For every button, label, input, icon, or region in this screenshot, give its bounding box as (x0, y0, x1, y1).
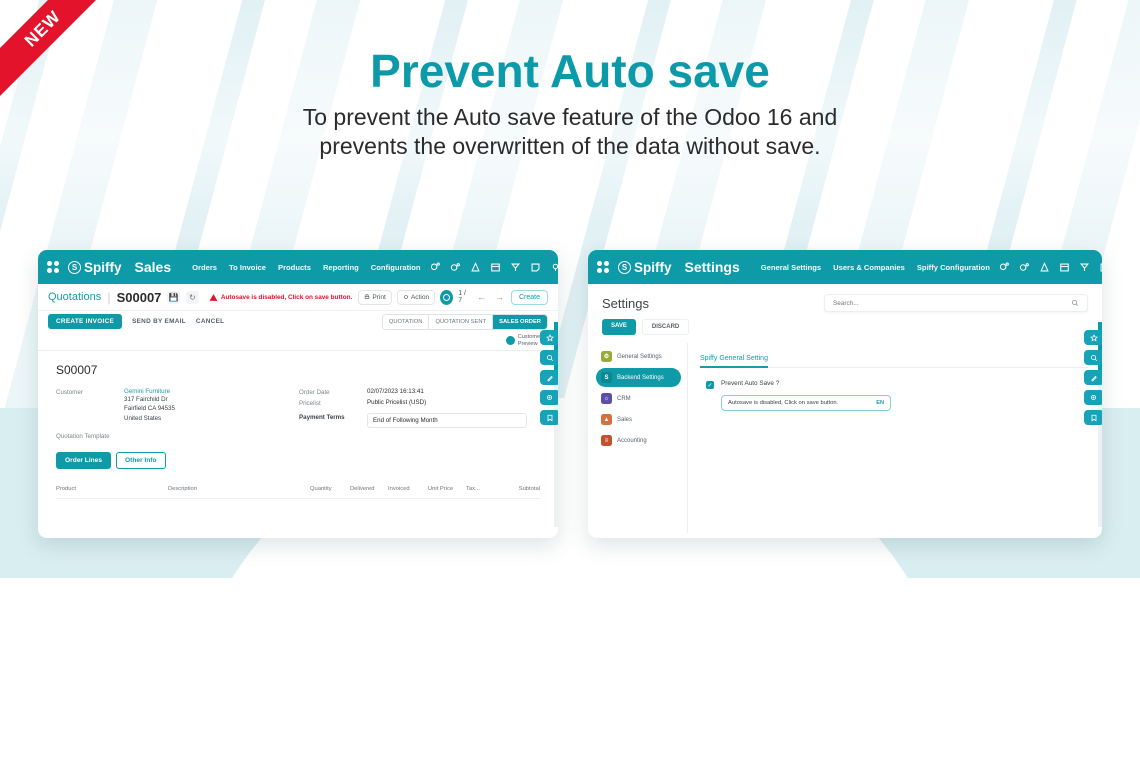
sidebar-item-sales[interactable]: ▲ Sales (596, 410, 681, 429)
settings-navbar: S Spiffy Settings General Settings Users… (588, 250, 1102, 284)
nav-item-configuration[interactable]: Configuration (371, 263, 421, 272)
app-name: Settings (685, 259, 740, 275)
apps-grid-icon[interactable] (47, 261, 59, 273)
col-tax: Tax... (466, 486, 494, 492)
note-icon[interactable] (1099, 262, 1102, 273)
settings-nav-links: General Settings Users & Companies Spiff… (761, 263, 990, 272)
brand-label: Spiffy (84, 260, 122, 275)
sales-navbar: S Spiffy Sales Orders To Invoice Product… (38, 250, 558, 284)
sales-control-bar: Quotations | S00007 💾 ↻ Autosave is disa… (38, 284, 558, 310)
floating-toolbar-right (1084, 330, 1102, 425)
payment-terms-input[interactable]: End of Following Month (367, 413, 527, 428)
address-line-1: 317 Fairchild Dr (124, 395, 175, 404)
breadcrumb-quotations[interactable]: Quotations (48, 291, 101, 303)
action-label: Action (411, 294, 429, 301)
address-line-3: United States (124, 414, 175, 423)
spiffy-icon: S (601, 372, 612, 383)
sales-status-row: CREATE INVOICE SEND BY EMAIL CANCEL QUOT… (38, 310, 558, 332)
spiffy-mark-icon: S (618, 261, 631, 274)
stage-quotation-sent[interactable]: QUOTATION SENT (429, 315, 493, 329)
field-customer-label: Customer (56, 388, 124, 396)
save-icon[interactable]: 💾 (167, 291, 180, 304)
sales-order-sheet: Customer Preview S00007 Customer Gemini … (38, 332, 558, 499)
gear-icon: ⚙ (601, 351, 612, 362)
sales-nav-links: Orders To Invoice Products Reporting Con… (192, 263, 420, 272)
customer-preview-button[interactable]: Customer Preview (506, 334, 542, 348)
autosave-warning: Autosave is disabled, Click on save butt… (209, 293, 352, 302)
arrow-left-icon[interactable]: ← (475, 292, 488, 302)
field-order-date: Order Date 02/07/2023 16:13:41 (299, 388, 540, 396)
sidebar-item-backend-settings[interactable]: S Backend Settings (596, 368, 681, 387)
create-button[interactable]: Create (511, 290, 548, 305)
printer-icon (364, 294, 370, 300)
col-delivered: Delivered (350, 486, 388, 492)
section-title-spiffy-general-setting: Spiffy General Setting (700, 355, 768, 368)
nav-item-products[interactable]: Products (278, 263, 311, 272)
star-icon[interactable] (540, 330, 558, 345)
brand-logo[interactable]: S Spiffy (68, 260, 122, 275)
field-pricelist: Pricelist Public Pricelist (USD) (299, 399, 540, 407)
sheet-columns: Customer Gemini Furniture 317 Fairchild … (56, 388, 540, 440)
customer-preview-label-1: Customer (518, 334, 542, 341)
floating-toolbar-left (540, 330, 558, 425)
field-pricelist-label: Pricelist (299, 399, 367, 407)
beacon-icon[interactable] (510, 262, 521, 273)
warning-triangle-icon (209, 293, 218, 302)
nav-item-reporting[interactable]: Reporting (323, 263, 359, 272)
zoom-icon[interactable] (540, 390, 558, 405)
apps-grid-icon[interactable] (597, 261, 609, 273)
stage-sales-order[interactable]: SALES ORDER (493, 315, 547, 329)
brand-logo[interactable]: S Spiffy (618, 260, 672, 275)
autosave-message-value: Autosave is disabled, Click on save butt… (728, 400, 838, 406)
sheet-tabs: Order Lines Other Info (56, 452, 540, 469)
record-indicator-icon[interactable] (440, 290, 453, 305)
settings-body: ⚙ General Settings S Backend Settings ☼ … (588, 343, 1102, 533)
nav-item-users-companies[interactable]: Users & Companies (833, 263, 905, 272)
settings-navbar-icons (999, 259, 1102, 276)
breadcrumb-current-record: S00007 (117, 290, 162, 305)
col-unit-price: Unit Price (428, 486, 466, 492)
field-payment-terms: Payment Terms End of Following Month (299, 413, 540, 428)
activity-icon[interactable] (1019, 262, 1030, 273)
undo-icon[interactable]: ↻ (186, 291, 199, 304)
spiffy-mark-icon: S (68, 261, 81, 274)
sidebar-label-general-settings: General Settings (617, 354, 662, 360)
print-button[interactable]: Print (358, 290, 392, 305)
search-box[interactable] (824, 294, 1088, 312)
autosave-message-input[interactable]: Autosave is disabled, Click on save butt… (721, 395, 891, 411)
page-title: Prevent Auto save (0, 44, 1140, 98)
breadcrumb-separator: | (107, 290, 110, 305)
nav-item-spiffy-configuration[interactable]: Spiffy Configuration (917, 263, 990, 272)
beacon-icon[interactable] (1079, 262, 1090, 273)
field-payment-terms-label: Payment Terms (299, 413, 367, 421)
bug-icon[interactable] (1039, 262, 1050, 273)
accounting-icon: ≡ (601, 435, 612, 446)
search-icon[interactable] (540, 350, 558, 365)
search-icon[interactable] (1084, 350, 1102, 365)
app-name: Sales (135, 259, 172, 275)
page-subtitle: To prevent the Auto save feature of the … (0, 103, 1140, 162)
settings-page-title: Settings (602, 296, 649, 311)
col-invoiced: Invoiced (388, 486, 428, 492)
field-order-date-value[interactable]: 02/07/2023 16:13:41 (367, 388, 424, 395)
activity-icon[interactable] (450, 262, 461, 273)
messages-icon[interactable] (430, 262, 441, 273)
control-bar-actions: Print Action 1 / 7 ← → Create (358, 290, 548, 305)
settings-app-screenshot: S Spiffy Settings General Settings Users… (588, 250, 1102, 538)
field-customer: Customer Gemini Furniture 317 Fairchild … (56, 388, 299, 423)
calendar-icon[interactable] (1059, 262, 1070, 273)
crm-icon: ☼ (601, 393, 612, 404)
brand-label: Spiffy (634, 260, 672, 275)
action-button[interactable]: Action (397, 290, 435, 305)
nav-item-orders[interactable]: Orders (192, 263, 217, 272)
stage-quotation[interactable]: QUOTATION (383, 315, 430, 329)
pager-counter: 1 / 7 (458, 290, 470, 304)
sales-icon: ▲ (601, 414, 612, 425)
pin-icon[interactable] (550, 262, 558, 273)
language-badge[interactable]: EN (876, 400, 884, 406)
col-product: Product (56, 486, 168, 492)
bookmark-icon[interactable] (540, 410, 558, 425)
autosave-warning-text: Autosave is disabled, Click on save butt… (221, 294, 352, 301)
note-icon[interactable] (530, 262, 541, 273)
prevent-auto-save-checkbox[interactable]: ✓ (706, 381, 714, 389)
sidebar-item-crm[interactable]: ☼ CRM (596, 389, 681, 408)
customer-preview-icon (506, 336, 515, 345)
zoom-icon[interactable] (1084, 390, 1102, 405)
bug-icon[interactable] (470, 262, 481, 273)
messages-icon[interactable] (999, 262, 1010, 273)
tab-order-lines[interactable]: Order Lines (56, 452, 111, 469)
col-quantity: Quantity (310, 486, 350, 492)
settings-header: Settings (588, 284, 1102, 312)
nav-item-general-settings[interactable]: General Settings (761, 263, 821, 272)
send-by-email-button[interactable]: SEND BY EMAIL (132, 318, 186, 325)
sidebar-item-general-settings[interactable]: ⚙ General Settings (596, 347, 681, 366)
field-quotation-template-label: Quotation Template (56, 432, 299, 440)
tab-other-info[interactable]: Other Info (116, 452, 166, 469)
calendar-icon[interactable] (490, 262, 501, 273)
field-order-date-label: Order Date (299, 388, 367, 396)
sidebar-label-crm: CRM (617, 396, 631, 402)
settings-main-panel: Spiffy General Setting ✓ Prevent Auto Sa… (688, 343, 1102, 533)
customer-address: 317 Fairchild Dr Fairfield CA 94535 Unit… (124, 395, 175, 423)
arrow-right-icon[interactable]: → (493, 292, 506, 302)
settings-sidebar: ⚙ General Settings S Backend Settings ☼ … (588, 343, 688, 533)
field-customer-value[interactable]: Gemini Furniture (124, 388, 175, 395)
star-icon[interactable] (1084, 330, 1102, 345)
save-button[interactable]: SAVE (602, 319, 636, 335)
bookmark-icon[interactable] (1084, 410, 1102, 425)
sales-navbar-icons (430, 259, 558, 276)
subtitle-line-2: prevents the overwritten of the data wit… (0, 132, 1140, 161)
create-invoice-button[interactable]: CREATE INVOICE (48, 314, 122, 329)
prevent-auto-save-option: ✓ Prevent Auto Save ? (700, 380, 1088, 389)
nav-item-to-invoice[interactable]: To Invoice (229, 263, 266, 272)
col-subtotal: Subtotal (494, 486, 540, 492)
sheet-left-column: Customer Gemini Furniture 317 Fairchild … (56, 388, 299, 440)
record-title: S00007 (56, 363, 540, 377)
sheet-divider (38, 350, 558, 351)
edit-pencil-icon[interactable] (1084, 370, 1102, 385)
print-label: Print (372, 294, 386, 301)
sheet-right-column: Order Date 02/07/2023 16:13:41 Pricelist… (299, 388, 540, 440)
search-input[interactable] (833, 300, 1071, 307)
settings-action-row: SAVE DISCARD (588, 312, 1102, 335)
customer-preview-label-2: Preview (518, 341, 542, 348)
status-stage-bar: QUOTATION QUOTATION SENT SALES ORDER (382, 314, 548, 330)
sidebar-item-accounting[interactable]: ≡ Accounting (596, 431, 681, 450)
col-description: Description (168, 486, 310, 492)
field-pricelist-value[interactable]: Public Pricelist (USD) (367, 399, 426, 406)
cancel-button[interactable]: CANCEL (196, 318, 224, 325)
address-line-2: Fairfield CA 94535 (124, 404, 175, 413)
subtitle-line-1: To prevent the Auto save feature of the … (0, 103, 1140, 132)
sidebar-label-sales: Sales (617, 417, 632, 423)
gear-icon (403, 294, 409, 300)
edit-pencil-icon[interactable] (540, 370, 558, 385)
prevent-auto-save-label: Prevent Auto Save ? (721, 380, 779, 389)
search-icon (1071, 299, 1079, 307)
discard-button[interactable]: DISCARD (642, 319, 689, 335)
sidebar-label-accounting: Accounting (617, 438, 647, 444)
order-lines-table-header: Product Description Quantity Delivered I… (56, 477, 540, 499)
sales-app-screenshot: S Spiffy Sales Orders To Invoice Product… (38, 250, 558, 538)
sidebar-label-backend-settings: Backend Settings (617, 375, 664, 381)
